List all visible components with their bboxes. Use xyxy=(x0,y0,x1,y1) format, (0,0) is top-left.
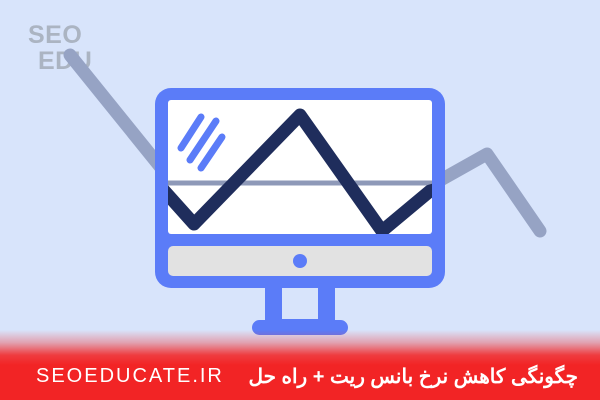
cover-image: SEO EDU xyxy=(0,0,600,400)
site-name-label: SEOEDUCATE.IR xyxy=(36,352,224,400)
power-dot-icon xyxy=(293,254,307,268)
outer-trend-line-right xyxy=(430,154,540,231)
headline-label: چگونگی کاهش نرخ بانس ریت + راه حل xyxy=(248,352,578,400)
banner-content: SEOEDUCATE.IR چگونگی کاهش نرخ بانس ریت +… xyxy=(0,352,600,400)
monitor-stand xyxy=(252,285,348,335)
bottom-banner: SEOEDUCATE.IR چگونگی کاهش نرخ بانس ریت +… xyxy=(0,330,600,400)
